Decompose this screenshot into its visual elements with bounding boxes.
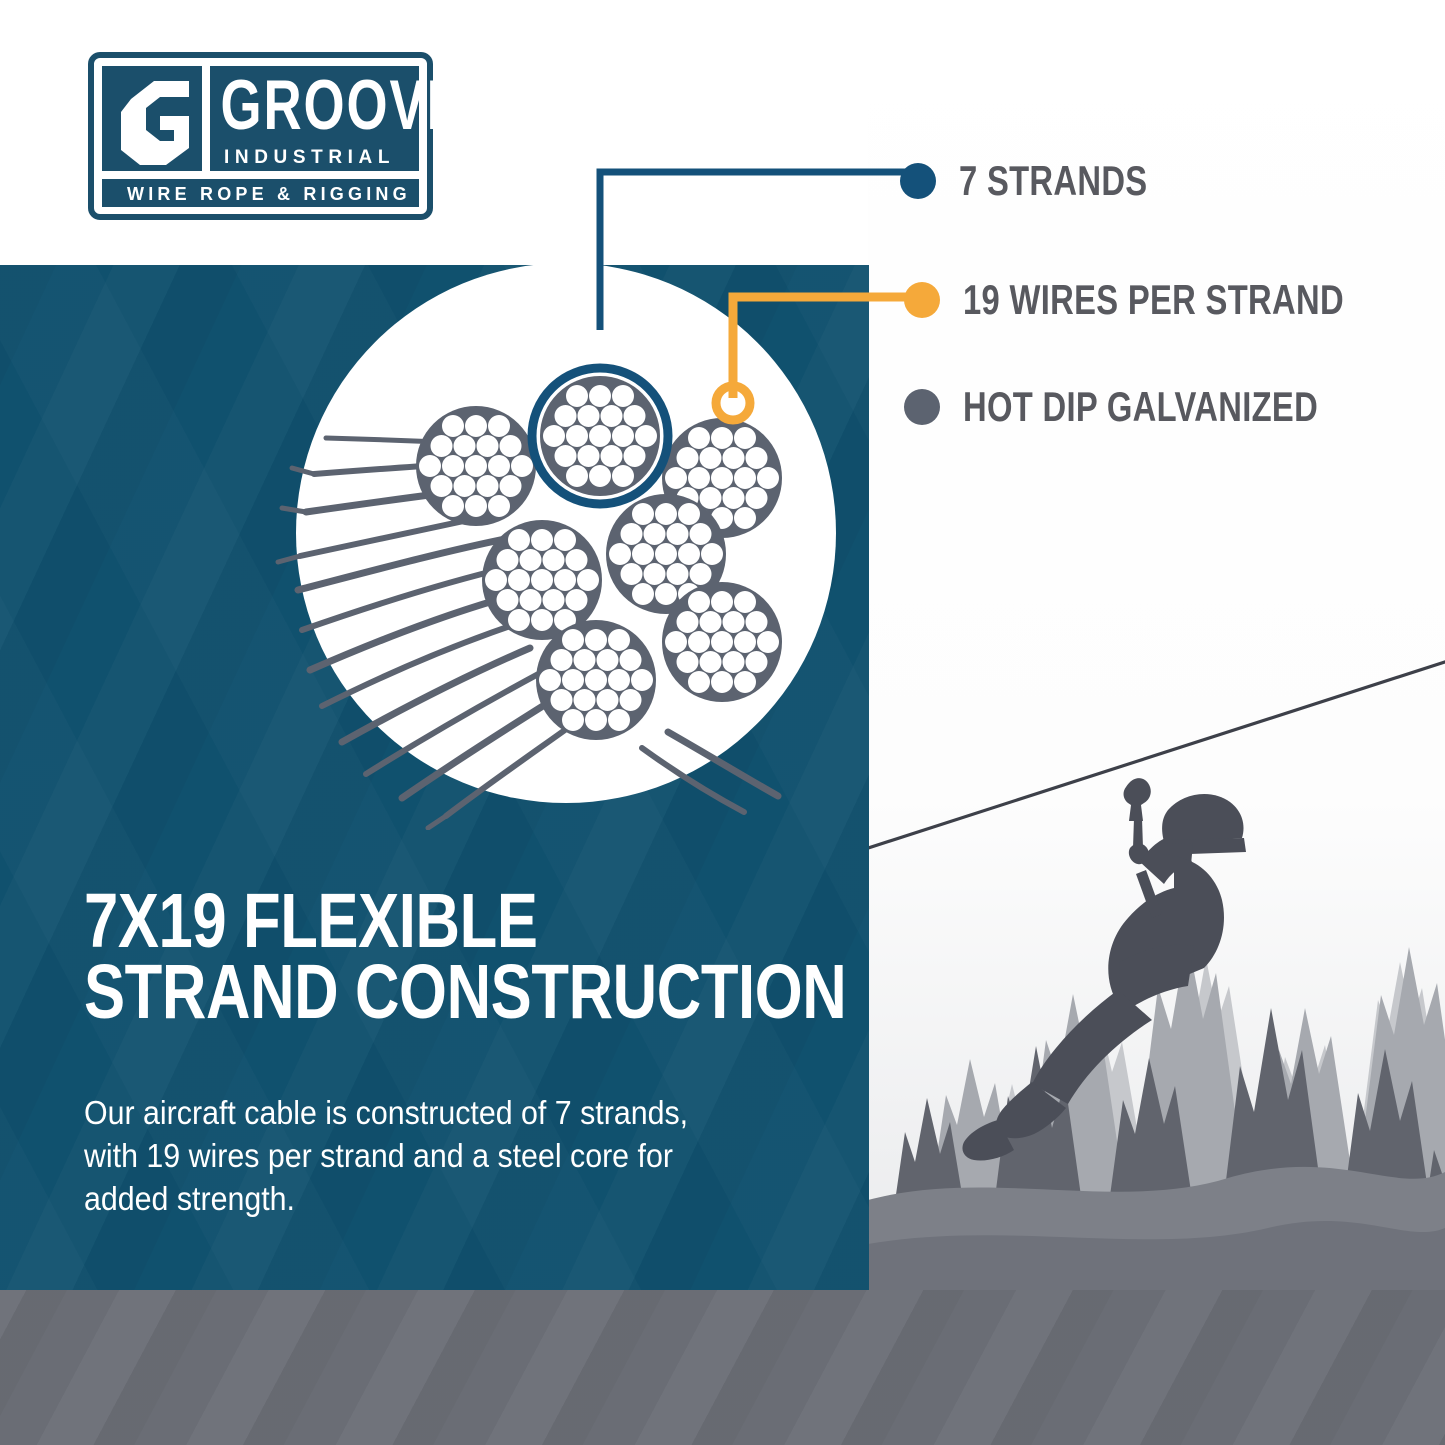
footer-stripe-texture xyxy=(0,1290,1445,1445)
svg-text:WIRE ROPE & RIGGING: WIRE ROPE & RIGGING xyxy=(127,184,411,204)
callout-label: HOT DIP GALVANIZED xyxy=(963,386,1318,428)
svg-text:GROOVE: GROOVE xyxy=(220,67,433,145)
callout-item-19-wires[interactable]: 19 WIRES PER STRAND xyxy=(904,279,1445,321)
callout-item-hot-dip-galvanized[interactable]: HOT DIP GALVANIZED xyxy=(904,386,1418,428)
page-title: 7X19 FLEXIBLE STRAND CONSTRUCTION xyxy=(84,886,692,1028)
wire-rope-illustration xyxy=(270,250,870,830)
body-copy-block: Our aircraft cable is constructed of 7 s… xyxy=(84,1092,784,1221)
callout-dot-gray xyxy=(904,389,940,425)
callout-label: 7 STRANDS xyxy=(959,160,1147,202)
footer-bar xyxy=(0,1290,1445,1445)
infographic-canvas: 7X19 FLEXIBLE STRAND CONSTRUCTION Our ai… xyxy=(0,0,1445,1445)
headline-block: 7X19 FLEXIBLE STRAND CONSTRUCTION xyxy=(84,886,844,1028)
brand-logo[interactable]: GROOVE INDUSTRIAL WIRE ROPE & RIGGING xyxy=(88,52,433,220)
headline-line-2: STRAND CONSTRUCTION xyxy=(84,957,692,1028)
callout-dot-navy xyxy=(900,163,936,199)
callout-label: 19 WIRES PER STRAND xyxy=(963,279,1344,321)
svg-text:INDUSTRIAL: INDUSTRIAL xyxy=(224,147,395,168)
callout-item-7-strands[interactable]: 7 STRANDS xyxy=(900,160,1201,202)
callout-dot-amber xyxy=(904,282,940,318)
body-paragraph: Our aircraft cable is constructed of 7 s… xyxy=(84,1092,746,1221)
